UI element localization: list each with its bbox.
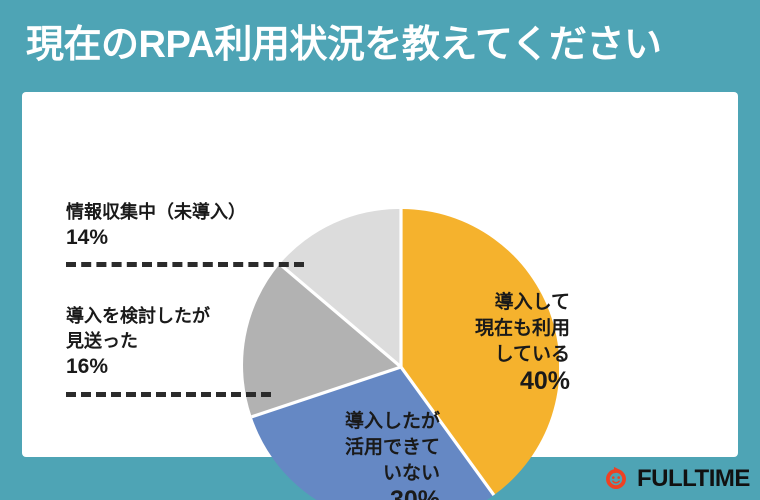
callout-percent: 16% [66, 355, 108, 378]
logo-wordmark: FULLTIME [637, 465, 750, 493]
callout-label-line: 見送った [66, 331, 138, 351]
slice-label-percent: 30% [294, 487, 440, 500]
infographic-canvas: 現在のRPA利用状況を教えてください [0, 0, 760, 500]
smiley-refresh-arrow-icon [602, 465, 630, 493]
slice-label-line: している [495, 344, 570, 365]
callout-leader-line [66, 262, 304, 267]
callout-leader-line [66, 392, 271, 397]
slice-label-line: 現在も利用 [475, 318, 570, 339]
slice-label-percent: 40% [438, 368, 570, 394]
callout-label-line: 導入を検討したが [66, 306, 210, 326]
fulltime-logo[interactable]: FULLTIME [602, 463, 752, 495]
slice-label-not-utilized: 導入したが 活用できて いない 30% [294, 409, 440, 500]
slice-label-line: 導入したが [345, 411, 440, 432]
slice-label-line: 活用できて [345, 437, 440, 458]
page-title: 現在のRPA利用状況を教えてください [26, 17, 742, 73]
callout-considered-declined: 導入を検討したが 見送った 16% [66, 304, 210, 380]
slice-label-line: 導入して [495, 292, 570, 313]
callout-percent: 14% [66, 226, 108, 249]
callout-info-gathering: 情報収集中（未導入） 14% [66, 200, 246, 251]
slice-label-in-use: 導入して 現在も利用 している 40% [438, 290, 570, 394]
chart-card: 導入して 現在も利用 している 40% 導入したが 活用できて いない 30% … [22, 92, 738, 457]
slice-label-line: いない [383, 463, 440, 484]
callout-label-line: 情報収集中（未導入） [66, 202, 246, 222]
